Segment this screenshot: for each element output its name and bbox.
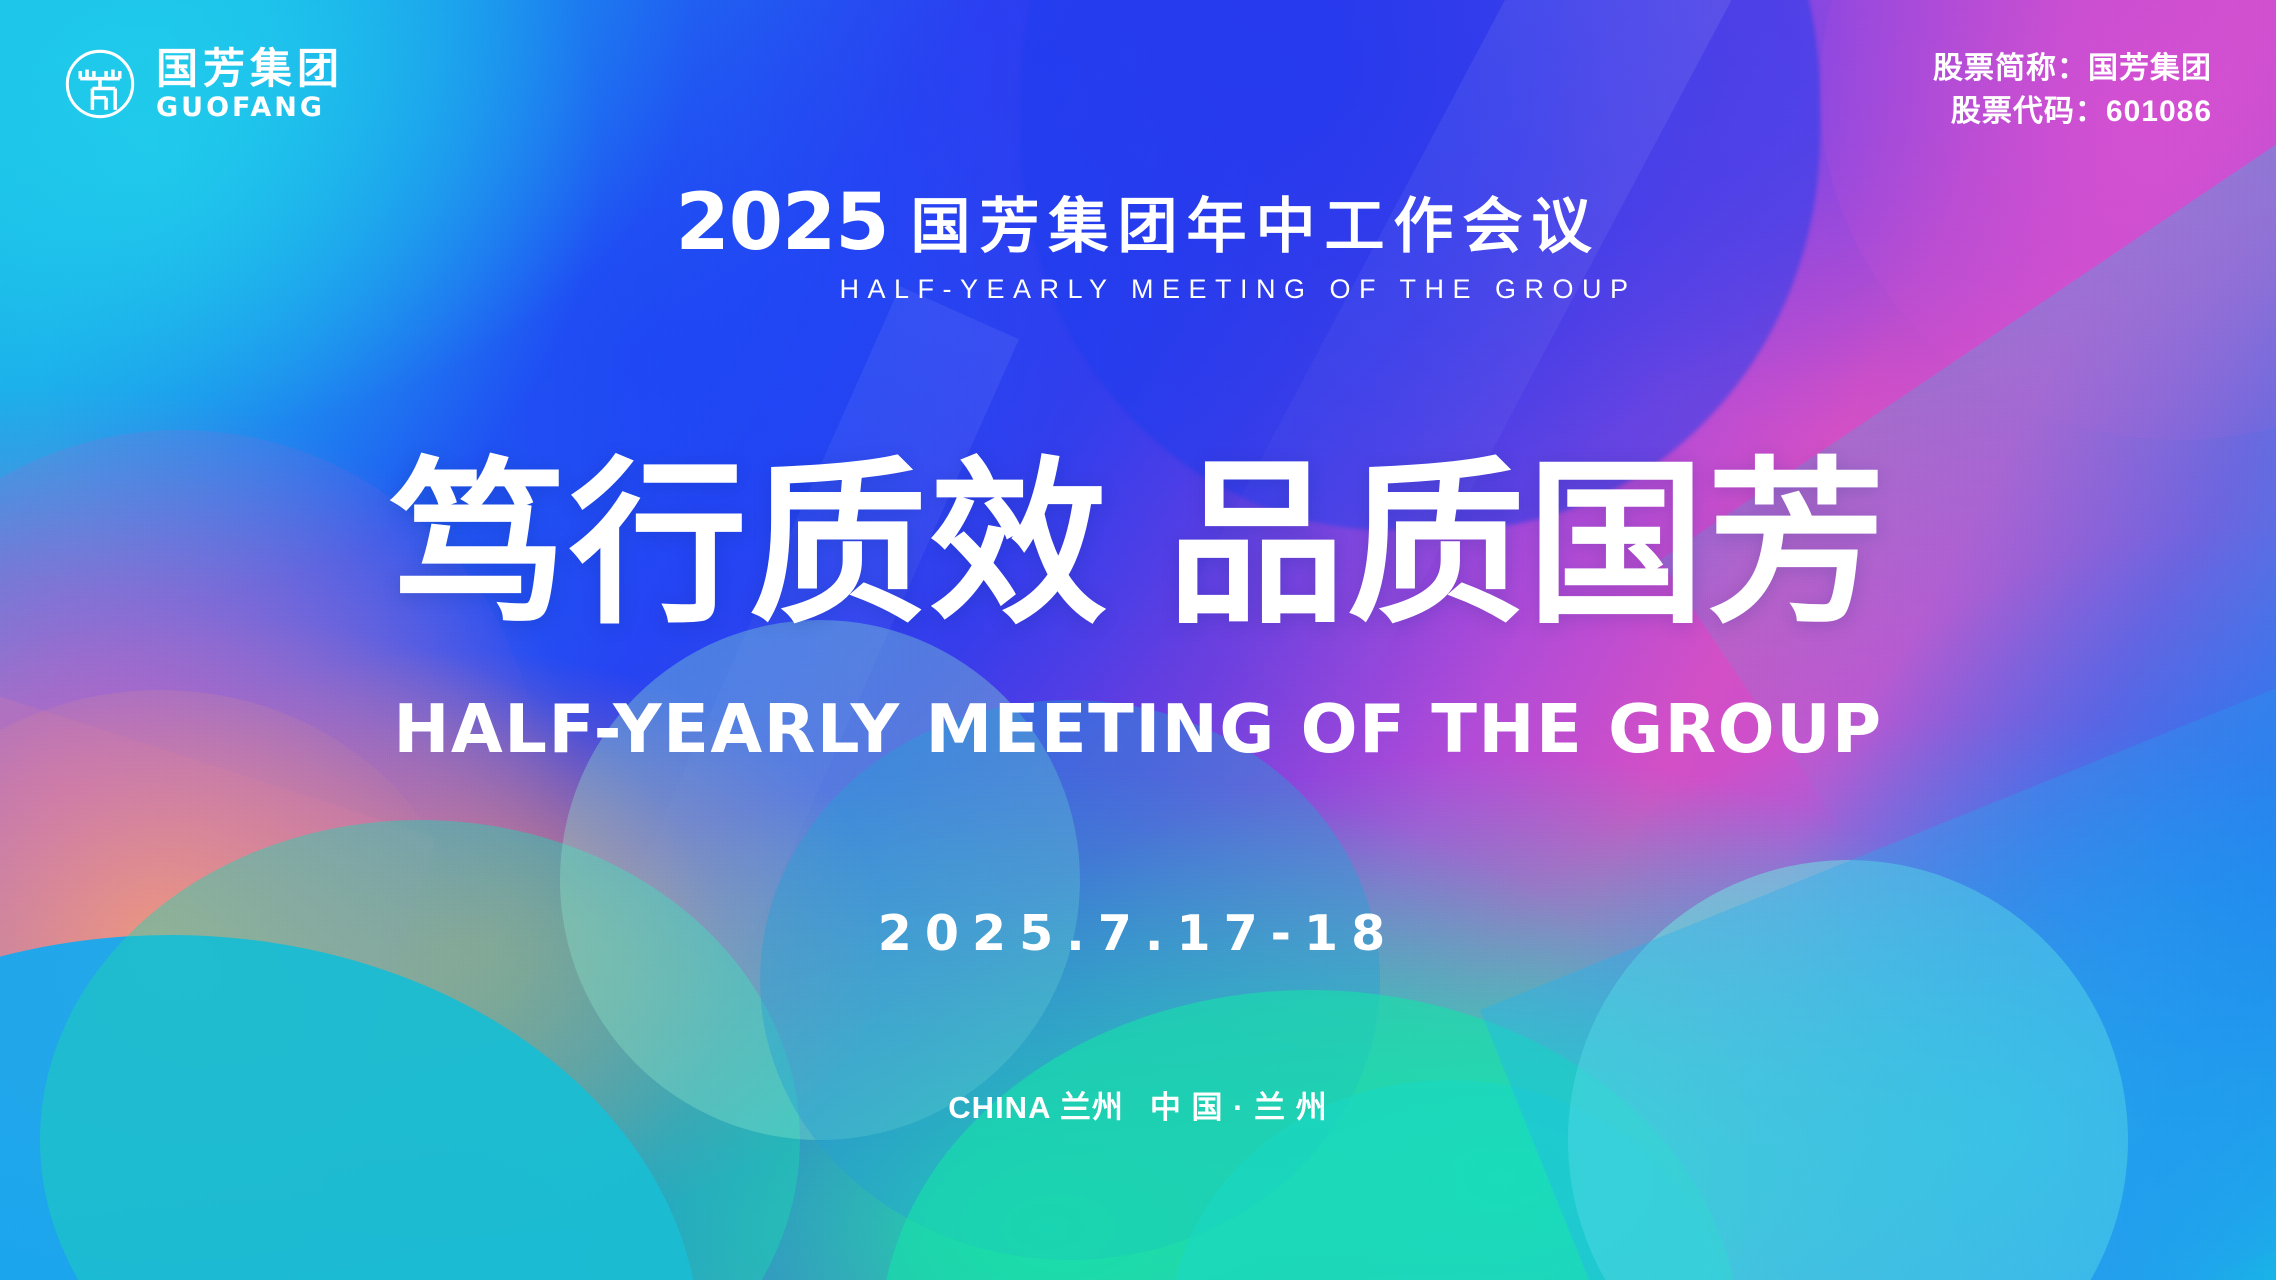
brand-name-en: GUOFANG xyxy=(156,94,344,121)
brand-logo-text: 国芳集团 GUOFANG xyxy=(156,48,344,121)
headline: 笃行质效品质国芳 xyxy=(0,456,2276,634)
stock-info: 股票简称：国芳集团 股票代码：601086 xyxy=(1933,48,2212,133)
stock-name-line: 股票简称：国芳集团 xyxy=(1933,48,2212,91)
venue-cn: 中 国 · 兰 州 xyxy=(1150,1090,1328,1125)
guofang-deer-emblem-icon xyxy=(62,46,138,122)
poster-canvas: 国芳集团 GUOFANG 股票简称：国芳集团 股票代码：601086 2025 … xyxy=(0,0,2276,1280)
brand-logo-lockup: 国芳集团 GUOFANG xyxy=(62,46,344,122)
brand-name-cn: 国芳集团 xyxy=(156,48,344,90)
meeting-title-row: 2025 国芳集团年中工作会议 xyxy=(675,186,1600,260)
event-date: 2025.7.17-18 xyxy=(0,905,2276,962)
meeting-title-cn: 国芳集团年中工作会议 xyxy=(911,197,1601,260)
stock-code-line: 股票代码：601086 xyxy=(1933,91,2212,134)
headline-part-two: 品质国芳 xyxy=(1167,445,1887,644)
headline-subtitle-en: HALF-YEARLY MEETING OF THE GROUP xyxy=(0,690,2276,768)
event-venue: CHINA 兰州中 国 · 兰 州 xyxy=(0,1082,2276,1127)
meeting-title-en: HALF-YEARLY MEETING OF THE GROUP xyxy=(839,274,1636,305)
venue-en: CHINA 兰州 xyxy=(948,1090,1124,1125)
meeting-year: 2025 xyxy=(675,186,888,260)
headline-part-one: 笃行质效 xyxy=(389,445,1109,644)
poster-content: 国芳集团 GUOFANG 股票简称：国芳集团 股票代码：601086 2025 … xyxy=(0,0,2276,1280)
meeting-title-block: 2025 国芳集团年中工作会议 HALF-YEARLY MEETING OF T… xyxy=(0,186,2276,305)
